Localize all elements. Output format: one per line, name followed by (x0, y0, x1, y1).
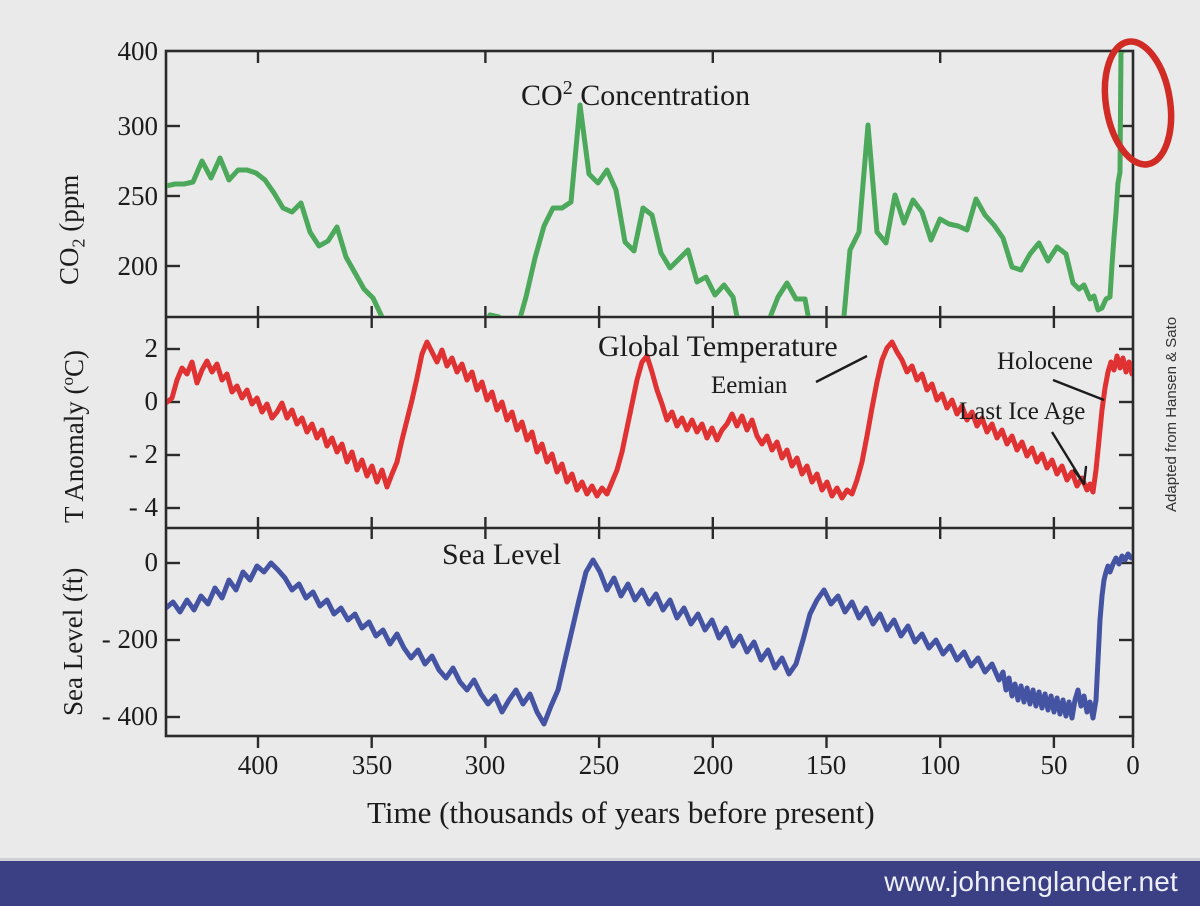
x-axis-title: Time (thousands of years before present) (367, 795, 875, 831)
xtick-150: 150 (786, 750, 866, 781)
xtick-200: 200 (673, 750, 753, 781)
temperature-ytick-neg4: - 4 (94, 492, 158, 523)
xtick-300: 300 (445, 750, 525, 781)
xtick-400: 400 (218, 750, 298, 781)
last-ice-age-annotation-label: Last Ice Age (959, 398, 1085, 426)
climate-chart-svg (0, 0, 1200, 856)
co2-ytick-200: 200 (104, 251, 158, 282)
sea-level-panel-title: Sea Level (442, 538, 561, 572)
figure-panel-stack: 400 300 250 200 CO2 (ppm CO2 Concentrati… (0, 0, 1200, 856)
holocene-annotation-label: Holocene (997, 348, 1093, 376)
sea-level-ytick-0: 0 (104, 547, 158, 578)
temperature-ytick-0: 0 (104, 386, 158, 417)
chart-background (0, 0, 1200, 856)
co2-panel-title: CO2 Concentration (521, 77, 750, 113)
website-url[interactable]: www.johnenglander.net (884, 866, 1178, 898)
co2-ytick-250: 250 (104, 181, 158, 212)
xtick-0: 0 (1093, 750, 1173, 781)
temperature-axis-title: T Anomaly (oC) (58, 350, 90, 523)
xtick-100: 100 (900, 750, 980, 781)
footer-bar: www.johnenglander.net (0, 858, 1200, 906)
co2-ytick-300: 300 (104, 111, 158, 142)
xtick-350: 350 (332, 750, 412, 781)
temperature-ytick-2: 2 (104, 333, 158, 364)
temperature-panel-title: Global Temperature (598, 330, 838, 364)
xtick-50: 50 (1014, 750, 1094, 781)
footer-highlight-rule (0, 858, 1200, 861)
eemian-annotation-label: Eemian (711, 372, 787, 400)
co2-ytick-400: 400 (104, 36, 158, 67)
co2-axis-title: CO2 (ppm (54, 175, 89, 285)
climate-figure-page: 400 300 250 200 CO2 (ppm CO2 Concentrati… (0, 0, 1200, 906)
sea-level-axis-title: Sea Level (ft) (58, 568, 89, 716)
source-credit: Adapted from Hansen & Sato (1163, 317, 1180, 512)
temperature-ytick-neg2: - 2 (94, 439, 158, 470)
xtick-250: 250 (559, 750, 639, 781)
